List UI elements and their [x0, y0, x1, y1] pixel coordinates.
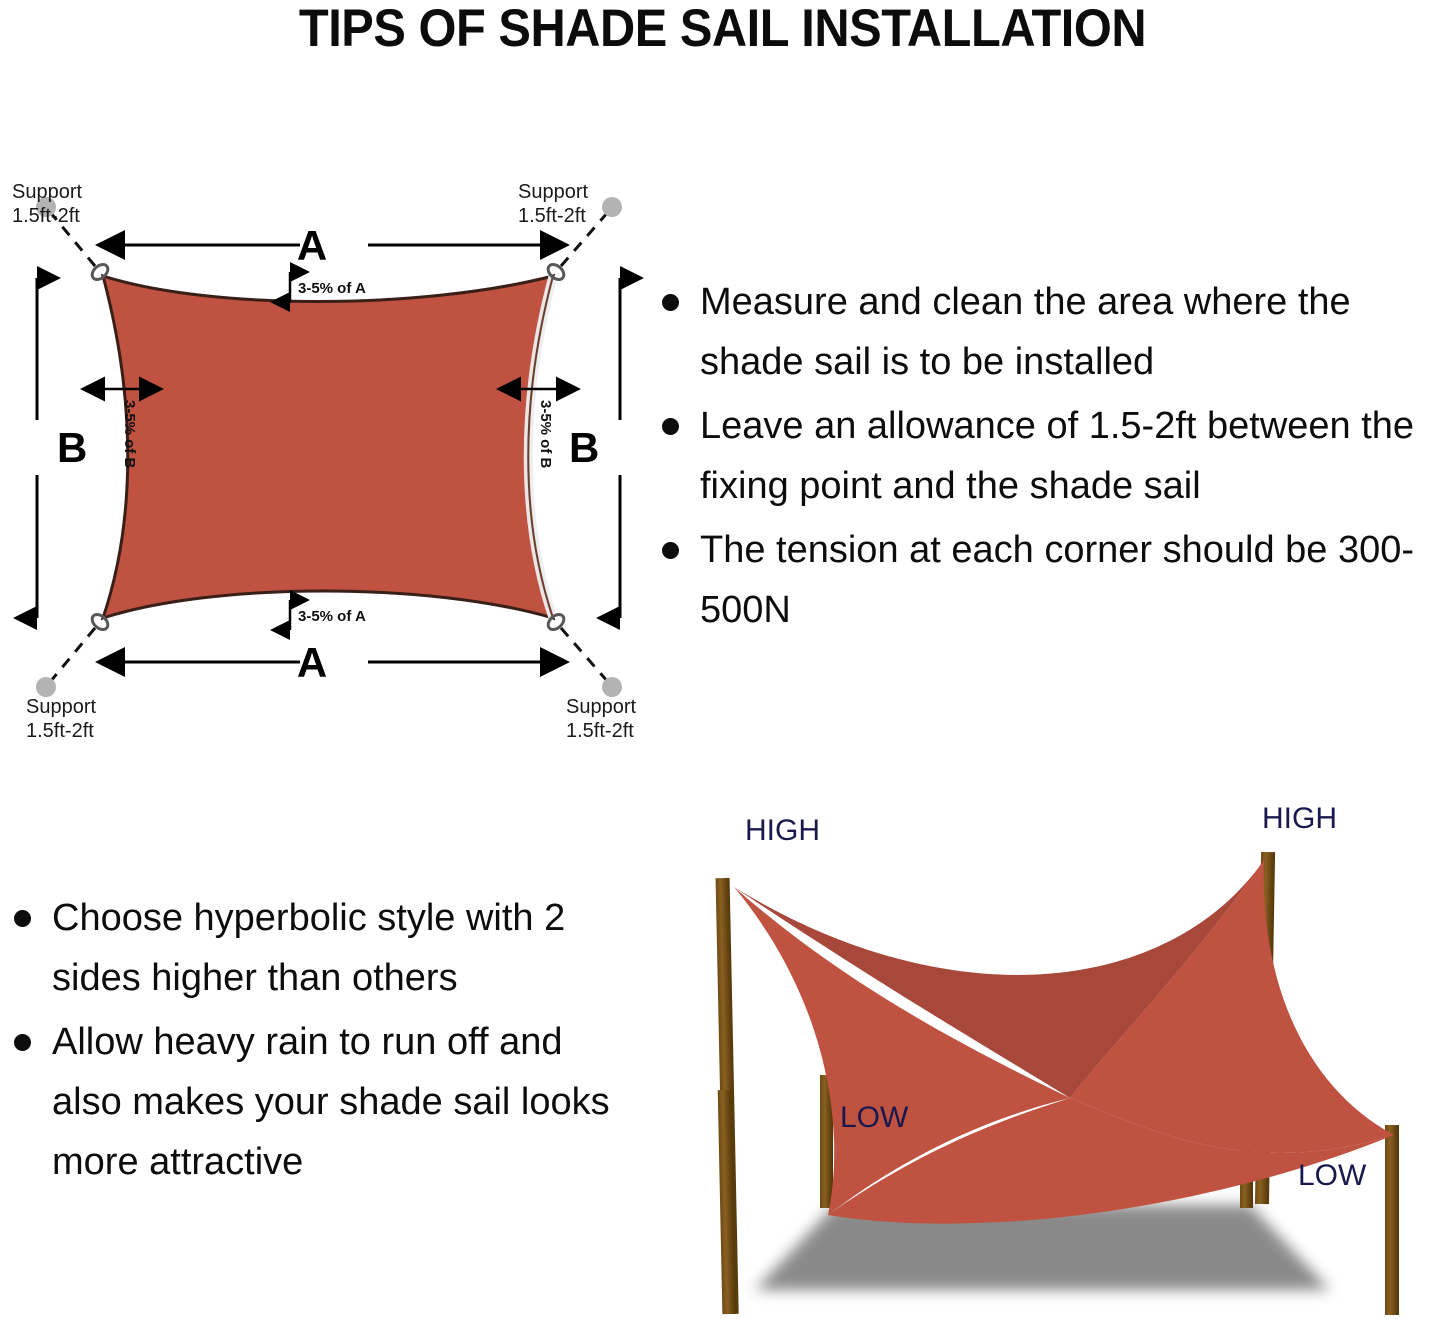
list-item: The tension at each corner should be 300… — [648, 520, 1445, 640]
support-label-top-left-line1: Support — [12, 181, 82, 203]
list-item: Measure and clean the area where the sha… — [648, 272, 1445, 392]
curvature-top: 3-5% of A — [290, 272, 366, 302]
curvature-label-top: 3-5% of A — [298, 280, 366, 297]
bullet-dot-icon — [662, 294, 679, 311]
support-line-bottom-left — [50, 628, 95, 682]
list-item: Allow heavy rain to run off and also mak… — [0, 1012, 620, 1192]
bullet-dot-icon — [662, 542, 679, 559]
support-dot — [602, 197, 622, 217]
support-label-top-right-line1: Support — [518, 181, 588, 203]
support-line-bottom-right — [561, 628, 608, 682]
dimension-label-b-right: B — [569, 424, 599, 471]
bullet-dot-icon — [662, 418, 679, 435]
dimension-label-a-bottom: A — [297, 639, 327, 686]
curvature-label-left: 3-5% of B — [121, 400, 138, 469]
bullet-dot-icon — [14, 1034, 31, 1051]
bullet-dot-icon — [14, 910, 31, 927]
support-label-top-right-line2: 1.5ft-2ft — [518, 205, 586, 227]
pole-label-low-right: LOW — [1298, 1159, 1367, 1192]
pole-label-high-right: HIGH — [1262, 802, 1337, 835]
tip-text: Choose hyperbolic style with 2 sides hig… — [52, 897, 565, 999]
dimension-a-top: A — [125, 222, 540, 269]
curvature-label-right: 3-5% of B — [537, 400, 554, 469]
support-label-bottom-left-line1: Support — [26, 696, 96, 718]
sail-fabric — [103, 276, 553, 618]
curvature-left: 3-5% of B — [105, 389, 139, 469]
list-item: Leave an allowance of 1.5-2ft between th… — [648, 396, 1445, 516]
dimension-label-b-left: B — [57, 424, 87, 471]
pole-low-right-front — [1385, 1190, 1399, 1315]
curvature-bottom: 3-5% of A — [290, 600, 366, 630]
dimension-a-bottom: A — [125, 639, 540, 686]
installation-tips-list-left: Choose hyperbolic style with 2 sides hig… — [0, 888, 620, 1196]
dimension-b-left: B — [37, 278, 87, 618]
rectangular-shade-sail-dimensions-diagram: Support 1.5ft-2ft Support 1.5ft-2ft Supp… — [0, 150, 680, 750]
pole-label-low-left: LOW — [840, 1101, 909, 1134]
sail-shape — [103, 276, 553, 618]
hyperbolic-shade-sail-illustration: HIGH HIGH LOW LOW — [650, 790, 1445, 1319]
pole-label-high-left: HIGH — [745, 814, 820, 847]
support-label-bottom-right-line1: Support — [566, 696, 636, 718]
tip-text: Leave an allowance of 1.5-2ft between th… — [700, 405, 1414, 507]
support-label-bottom-right-line2: 1.5ft-2ft — [566, 720, 634, 742]
list-item: Choose hyperbolic style with 2 sides hig… — [0, 888, 620, 1008]
tip-text: Measure and clean the area where the sha… — [700, 281, 1351, 383]
tip-text: Allow heavy rain to run off and also mak… — [52, 1021, 610, 1183]
dimension-b-right: B — [569, 278, 620, 618]
dimension-label-a-top: A — [297, 222, 327, 269]
installation-tips-list-right: Measure and clean the area where the sha… — [648, 272, 1445, 644]
support-label-bottom-left-line2: 1.5ft-2ft — [26, 720, 94, 742]
tip-text: The tension at each corner should be 300… — [700, 529, 1414, 631]
curvature-label-bottom: 3-5% of A — [298, 608, 366, 625]
support-dot — [36, 677, 56, 697]
support-label-top-left-line2: 1.5ft-2ft — [12, 205, 80, 227]
support-dot — [602, 677, 622, 697]
page-title: TIPS OF SHADE SAIL INSTALLATION — [58, 0, 1387, 58]
